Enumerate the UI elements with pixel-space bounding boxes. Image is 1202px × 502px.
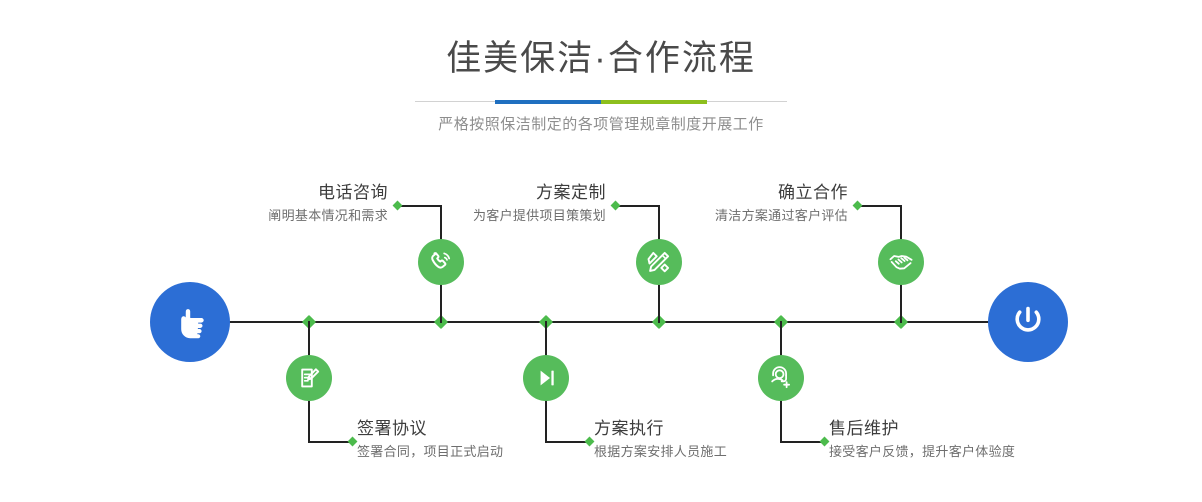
step-title-3: 方案定制 (473, 182, 606, 204)
divider-segment-blue (495, 100, 601, 104)
document-edit-icon (295, 364, 323, 392)
step-title-1: 电话咨询 (268, 182, 388, 204)
connector-horizontal-step-4 (545, 441, 589, 443)
label-marker-step-5 (853, 201, 863, 211)
label-marker-step-6 (820, 437, 830, 447)
step-title-4: 方案执行 (594, 418, 727, 440)
step-title-2: 签署协议 (357, 418, 503, 440)
step-label-1: 电话咨询 阐明基本情况和需求 (268, 182, 388, 225)
divider-segment-green (601, 100, 707, 104)
support-agent-icon (767, 364, 795, 392)
label-marker-step-1 (393, 201, 403, 211)
phone-call-icon (427, 248, 455, 276)
connector-horizontal-step-6 (780, 441, 824, 443)
divider-line-right (707, 101, 787, 102)
connector-horizontal-step-1 (398, 205, 442, 207)
connector-horizontal-step-2 (308, 441, 352, 443)
divider-line-left (415, 101, 495, 102)
step-subtitle-5: 清洁方案通过客户评估 (715, 207, 848, 225)
label-marker-step-2 (348, 437, 358, 447)
handshake-icon (887, 248, 915, 276)
connector-horizontal-step-5 (858, 205, 902, 207)
step-subtitle-6: 接受客户反馈，提升客户体验度 (829, 443, 1015, 461)
label-marker-step-4 (585, 437, 595, 447)
step-label-5: 确立合作 清洁方案通过客户评估 (715, 182, 848, 225)
flow-end-endpoint[interactable] (988, 282, 1068, 362)
step-node-1[interactable] (418, 239, 464, 285)
step-subtitle-1: 阐明基本情况和需求 (268, 207, 388, 225)
step-label-3: 方案定制 为客户提供项目策策划 (473, 182, 606, 225)
pencil-ruler-icon (645, 248, 673, 276)
step-subtitle-4: 根据方案安排人员施工 (594, 443, 727, 461)
step-node-4[interactable] (523, 355, 569, 401)
flow-timeline: 电话咨询 阐明基本情况和需求 签署协议 签署合同，项目正式启动 (0, 160, 1202, 502)
step-label-2: 签署协议 签署合同，项目正式启动 (357, 418, 503, 461)
step-label-4: 方案执行 根据方案安排人员施工 (594, 418, 727, 461)
power-icon (1005, 299, 1051, 345)
connector-horizontal-step-3 (616, 205, 660, 207)
step-subtitle-3: 为客户提供项目策策划 (473, 207, 606, 225)
title-divider (415, 100, 787, 104)
step-subtitle-2: 签署合同，项目正式启动 (357, 443, 503, 461)
step-node-5[interactable] (878, 239, 924, 285)
step-node-3[interactable] (636, 239, 682, 285)
step-node-2[interactable] (286, 355, 332, 401)
page-subtitle: 严格按照保洁制定的各项管理规章制度开展工作 (0, 104, 1202, 135)
pointing-hand-icon (168, 300, 212, 344)
step-title-5: 确立合作 (715, 182, 848, 204)
play-skip-icon (532, 364, 560, 392)
step-title-6: 售后维护 (829, 418, 1015, 440)
cooperation-flow-infographic: 佳美保洁·合作流程 严格按照保洁制定的各项管理规章制度开展工作 (0, 0, 1202, 502)
header: 佳美保洁·合作流程 严格按照保洁制定的各项管理规章制度开展工作 (0, 0, 1202, 135)
page-title: 佳美保洁·合作流程 (0, 0, 1202, 80)
step-node-6[interactable] (758, 355, 804, 401)
flow-start-endpoint[interactable] (150, 282, 230, 362)
step-label-6: 售后维护 接受客户反馈，提升客户体验度 (829, 418, 1015, 461)
label-marker-step-3 (611, 201, 621, 211)
